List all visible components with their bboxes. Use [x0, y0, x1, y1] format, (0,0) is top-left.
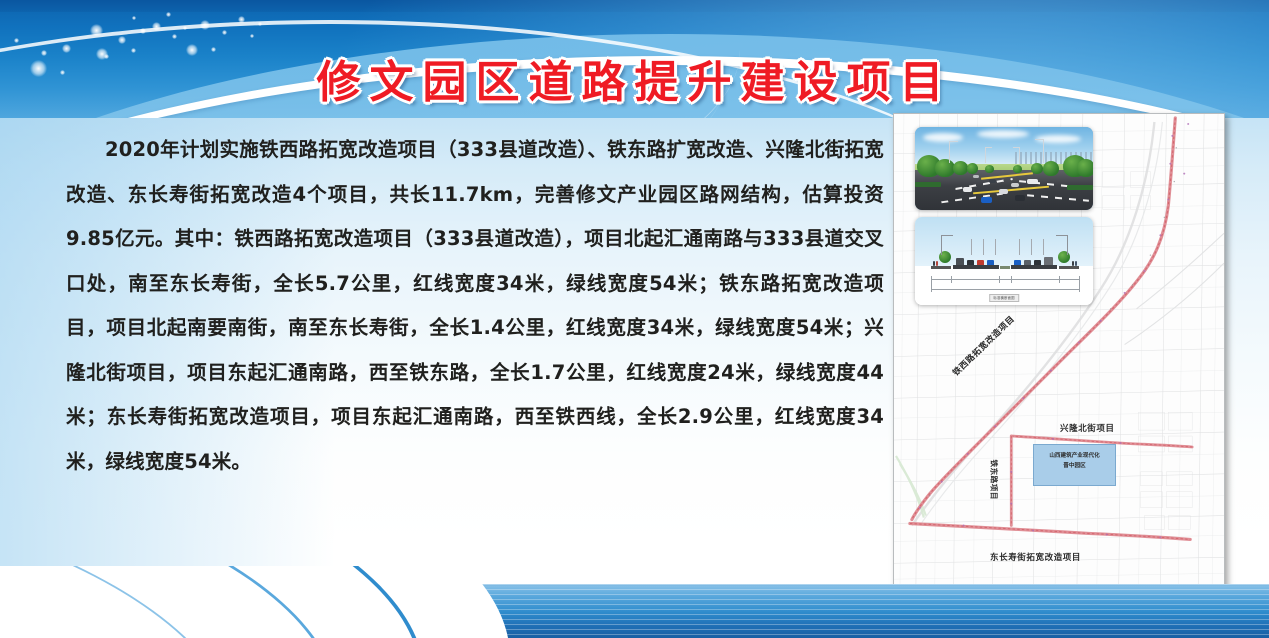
photo-roadside-tree	[967, 163, 978, 174]
photo-street-light	[949, 141, 950, 163]
section-dimension-line	[931, 279, 1079, 280]
photo-roadside-tree	[953, 161, 968, 175]
photo-vehicle	[989, 179, 996, 183]
photo-vehicle	[999, 189, 1008, 194]
section-utility-leader	[1031, 239, 1032, 255]
photo-cloud	[977, 130, 1029, 138]
section-pedestrian	[933, 261, 935, 266]
photo-street-light-arm	[1035, 139, 1044, 140]
park-label-line-1: 山西建筑产业现代化	[1033, 451, 1116, 461]
section-utility-leader	[983, 239, 984, 255]
presentation-slide: 修文园区道路提升建设项目 2020年计划实施铁西路拓宽改造项目（333县道改造）…	[0, 0, 1269, 638]
section-tree	[1058, 251, 1070, 263]
photo-roadside-tree	[985, 165, 994, 173]
section-utility-leader	[995, 239, 996, 255]
photo-street-light	[1019, 147, 1020, 164]
section-footway	[931, 266, 951, 269]
section-carriageway	[953, 265, 999, 269]
section-dimension-tick	[1079, 276, 1080, 292]
section-dimension-tick	[951, 276, 952, 283]
section-vehicle	[987, 260, 994, 265]
photo-roadside-tree	[1013, 165, 1022, 173]
map-label-dongchangshou-street: 东长寿街拓宽改造项目	[990, 551, 1081, 563]
photo-roadside-tree	[1043, 161, 1059, 176]
photo-roadside-tree	[935, 159, 955, 177]
section-pedestrian	[936, 261, 938, 266]
section-footway	[1059, 266, 1079, 269]
section-vehicle	[1044, 257, 1053, 265]
section-dimension-tick	[999, 276, 1000, 283]
photo-street-light	[985, 147, 986, 163]
section-lighting-arm	[1056, 235, 1068, 236]
photo-median-strip	[1067, 185, 1093, 190]
section-vehicle	[1024, 260, 1031, 265]
section-vehicle	[977, 260, 984, 265]
section-dimension-line	[931, 289, 1079, 290]
photo-vehicle	[963, 187, 972, 192]
map-label-xinglong-street: 兴隆北街项目	[1060, 422, 1115, 434]
photo-vehicle	[1011, 183, 1019, 187]
section-carriageway	[1011, 265, 1057, 269]
slide-title: 修文园区道路提升建设项目	[0, 46, 1269, 110]
photo-street-light-arm	[1013, 147, 1020, 148]
content-area: 2020年计划实施铁西路拓宽改造项目（333县道改造）、铁东路扩宽改造、兴隆北街…	[66, 128, 884, 484]
section-vehicle	[1034, 260, 1041, 265]
section-vehicle	[1014, 260, 1021, 265]
photo-roadside-tree	[1077, 159, 1093, 177]
photo-roadside-tree	[1031, 163, 1043, 174]
section-pedestrian	[1072, 261, 1074, 266]
project-map-panel: 山西建筑产业现代化 晋中园区 铁西路拓宽改造项目 铁东路项目 兴隆北街项目 东长…	[893, 113, 1225, 595]
park-label-line-2: 晋中园区	[1033, 461, 1116, 471]
photo-street-light-arm	[985, 147, 992, 148]
section-pedestrian	[1075, 261, 1077, 266]
section-utility-leader	[971, 239, 972, 255]
section-utility-leader	[1019, 239, 1020, 255]
photo-median-strip	[915, 182, 941, 187]
section-lighting-arm	[941, 235, 953, 236]
photo-vehicle	[981, 197, 992, 203]
project-description-paragraph: 2020年计划实施铁西路拓宽改造项目（333县道改造）、铁东路扩宽改造、兴隆北街…	[66, 128, 884, 484]
photo-street-light-arm	[949, 141, 958, 142]
road-cross-section-diagram: 标准横断面图	[915, 217, 1093, 305]
section-diagram-caption: 标准横断面图	[989, 294, 1019, 302]
section-vehicle	[967, 260, 974, 265]
photo-vehicle	[973, 175, 979, 178]
section-dimension-tick	[1059, 276, 1060, 283]
map-canvas: 山西建筑产业现代化 晋中园区 铁西路拓宽改造项目 铁东路项目 兴隆北街项目 东长…	[894, 114, 1224, 594]
section-dimension-tick	[1011, 276, 1012, 283]
industrial-park-label: 山西建筑产业现代化 晋中园区	[1033, 451, 1116, 471]
section-dimension-tick	[931, 276, 932, 292]
photo-vehicle	[1015, 195, 1025, 201]
map-label-tiedong-road: 铁东路项目	[989, 460, 1000, 500]
road-rendering-photo	[915, 127, 1093, 210]
section-lighting-pole	[941, 235, 942, 255]
photo-street-light	[1043, 139, 1044, 163]
section-lighting-pole	[1067, 235, 1068, 255]
section-median	[1000, 266, 1010, 269]
photo-vehicle	[1027, 179, 1038, 184]
slide-footer-decoration	[0, 566, 1269, 638]
section-vehicle	[956, 258, 964, 265]
section-utility-leader	[1043, 239, 1044, 255]
